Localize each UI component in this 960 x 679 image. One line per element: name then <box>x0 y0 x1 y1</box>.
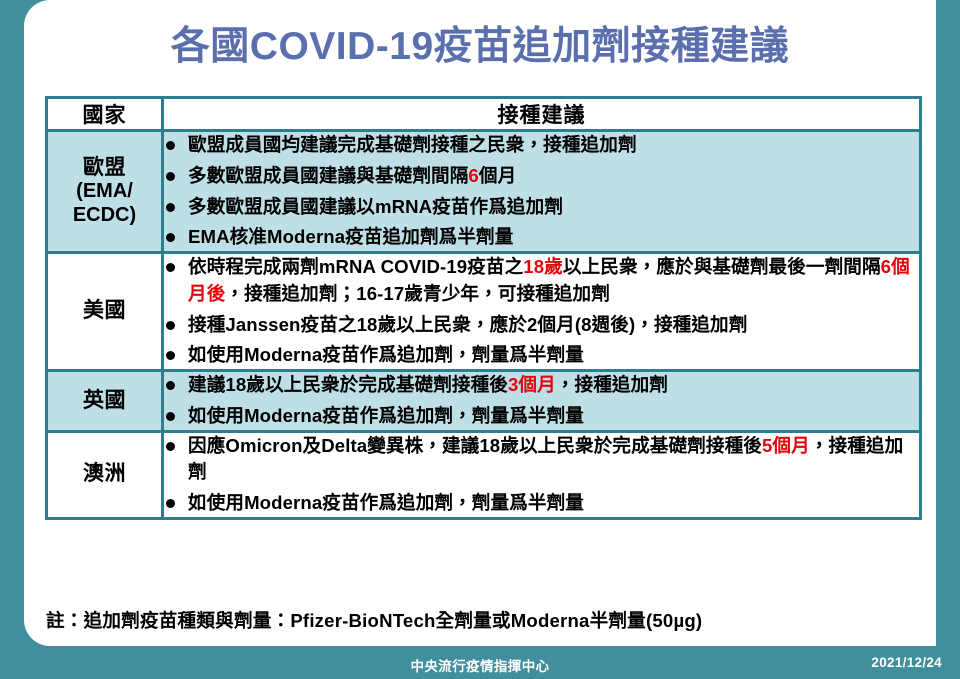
table-row: 英國建議18歲以上民衆於完成基礎劑接種後3個月，接種追加劑如使用Moderna疫… <box>47 371 921 432</box>
bullet-item: 如使用Moderna疫苗作爲追加劑，劑量爲半劑量 <box>164 403 919 430</box>
bullet-text: ，接種追加劑 <box>556 374 668 395</box>
recommendation-cell: 依時程完成兩劑mRNA COVID-19疫苗之18歲以上民衆，應於與基礎劑最後一… <box>163 253 921 371</box>
country-name: 歐盟 <box>83 156 126 179</box>
bullet-text: 如使用Moderna疫苗作爲追加劑，劑量爲半劑量 <box>188 405 584 426</box>
footer-organization: 中央流行疫情指揮中心 <box>0 655 960 675</box>
bullet-text: 以上民衆，應於與基礎劑最後一劑間隔 <box>563 256 881 277</box>
recommendation-table: 國家 接種建議 歐盟(EMA/ECDC)歐盟成員國均建議完成基礎劑接種之民衆，接… <box>45 96 922 520</box>
country-name: 澳洲 <box>83 462 126 485</box>
country-cell: 美國 <box>47 253 163 371</box>
recommendation-cell: 建議18歲以上民衆於完成基礎劑接種後3個月，接種追加劑如使用Moderna疫苗作… <box>163 371 921 432</box>
bullet-text: 如使用Moderna疫苗作爲追加劑，劑量爲半劑量 <box>188 492 584 513</box>
column-header-country: 國家 <box>47 98 163 131</box>
recommendation-table-wrapper: 國家 接種建議 歐盟(EMA/ECDC)歐盟成員國均建議完成基礎劑接種之民衆，接… <box>45 96 919 520</box>
footnote: 註：追加劑疫苗種類與劑量：Pfizer-BioNTech全劑量或Moderna半… <box>46 606 926 633</box>
table-row: 美國依時程完成兩劑mRNA COVID-19疫苗之18歲以上民衆，應於與基礎劑最… <box>47 253 921 371</box>
country-cell: 澳洲 <box>47 431 163 518</box>
footer-date: 2021/12/24 <box>871 655 942 670</box>
recommendation-cell: 因應Omicron及Delta變異株，建議18歲以上民衆於完成基礎劑接種後5個月… <box>163 431 921 518</box>
bullet-list: 建議18歲以上民衆於完成基礎劑接種後3個月，接種追加劑如使用Moderna疫苗作… <box>164 372 919 430</box>
bullet-list: 歐盟成員國均建議完成基礎劑接種之民衆，接種追加劑多數歐盟成員國建議與基礎劑間隔6… <box>164 132 919 251</box>
bullet-text: 多數歐盟成員國建議以mRNA疫苗作爲追加劑 <box>188 196 563 217</box>
page-title: 各國COVID-19疫苗追加劑接種建議 <box>24 26 936 69</box>
country-name: 美國 <box>83 299 126 322</box>
country-cell: 歐盟(EMA/ECDC) <box>47 131 163 253</box>
bullet-item: 如使用Moderna疫苗作爲追加劑，劑量爲半劑量 <box>164 342 919 369</box>
country-subtitle-2: ECDC) <box>48 204 161 228</box>
country-cell: 英國 <box>47 371 163 432</box>
bullet-text: 多數歐盟成員國建議與基礎劑間隔 <box>188 165 468 186</box>
recommendation-cell: 歐盟成員國均建議完成基礎劑接種之民衆，接種追加劑多數歐盟成員國建議與基礎劑間隔6… <box>163 131 921 253</box>
bullet-item: 因應Omicron及Delta變異株，建議18歲以上民衆於完成基礎劑接種後5個月… <box>164 433 919 487</box>
highlighted-text: 5個月 <box>762 435 810 456</box>
bullet-text: 歐盟成員國均建議完成基礎劑接種之民衆，接種追加劑 <box>188 134 637 155</box>
bullet-item: 多數歐盟成員國建議與基礎劑間隔6個月 <box>164 163 919 190</box>
bullet-list: 依時程完成兩劑mRNA COVID-19疫苗之18歲以上民衆，應於與基礎劑最後一… <box>164 254 919 369</box>
poster-root: 各國COVID-19疫苗追加劑接種建議 國家 接種建議 歐盟(EMA/ECDC)… <box>0 0 960 679</box>
bullet-text: 接種Janssen疫苗之18歲以上民衆，應於2個月(8週後)，接種追加劑 <box>188 314 747 335</box>
table-row: 澳洲因應Omicron及Delta變異株，建議18歲以上民衆於完成基礎劑接種後5… <box>47 431 921 518</box>
highlighted-text: 3個月 <box>508 374 556 395</box>
country-subtitle-1: (EMA/ <box>48 180 161 204</box>
bullet-item: EMA核准Moderna疫苗追加劑爲半劑量 <box>164 224 919 251</box>
column-header-recommendation: 接種建議 <box>163 98 921 131</box>
table-header-row: 國家 接種建議 <box>47 98 921 131</box>
bullet-text: 如使用Moderna疫苗作爲追加劑，劑量爲半劑量 <box>188 344 584 365</box>
bullet-item: 建議18歲以上民衆於完成基礎劑接種後3個月，接種追加劑 <box>164 372 919 399</box>
bullet-item: 歐盟成員國均建議完成基礎劑接種之民衆，接種追加劑 <box>164 132 919 159</box>
bullet-text: ，接種追加劑；16-17歲青少年，可接種追加劑 <box>225 283 610 304</box>
highlighted-text: 6 <box>468 165 478 186</box>
bullet-text: 因應Omicron及Delta變異株，建議18歲以上民衆於完成基礎劑接種後 <box>188 435 762 456</box>
bullet-item: 依時程完成兩劑mRNA COVID-19疫苗之18歲以上民衆，應於與基礎劑最後一… <box>164 254 919 308</box>
highlighted-text: 18歲 <box>523 256 563 277</box>
bullet-item: 如使用Moderna疫苗作爲追加劑，劑量爲半劑量 <box>164 490 919 517</box>
bullet-text: 個月 <box>479 165 516 186</box>
bullet-item: 多數歐盟成員國建議以mRNA疫苗作爲追加劑 <box>164 194 919 221</box>
bullet-item: 接種Janssen疫苗之18歲以上民衆，應於2個月(8週後)，接種追加劑 <box>164 312 919 339</box>
bullet-text: 建議18歲以上民衆於完成基礎劑接種後 <box>188 374 508 395</box>
bullet-list: 因應Omicron及Delta變異株，建議18歲以上民衆於完成基礎劑接種後5個月… <box>164 433 919 517</box>
country-name: 英國 <box>83 389 126 412</box>
footer-bar: 中央流行疫情指揮中心 2021/12/24 <box>0 646 960 679</box>
table-row: 歐盟(EMA/ECDC)歐盟成員國均建議完成基礎劑接種之民衆，接種追加劑多數歐盟… <box>47 131 921 253</box>
content-card: 各國COVID-19疫苗追加劑接種建議 國家 接種建議 歐盟(EMA/ECDC)… <box>24 0 936 646</box>
bullet-text: EMA核准Moderna疫苗追加劑爲半劑量 <box>188 226 513 247</box>
bullet-text: 依時程完成兩劑mRNA COVID-19疫苗之 <box>188 256 523 277</box>
table-body: 歐盟(EMA/ECDC)歐盟成員國均建議完成基礎劑接種之民衆，接種追加劑多數歐盟… <box>47 131 921 519</box>
